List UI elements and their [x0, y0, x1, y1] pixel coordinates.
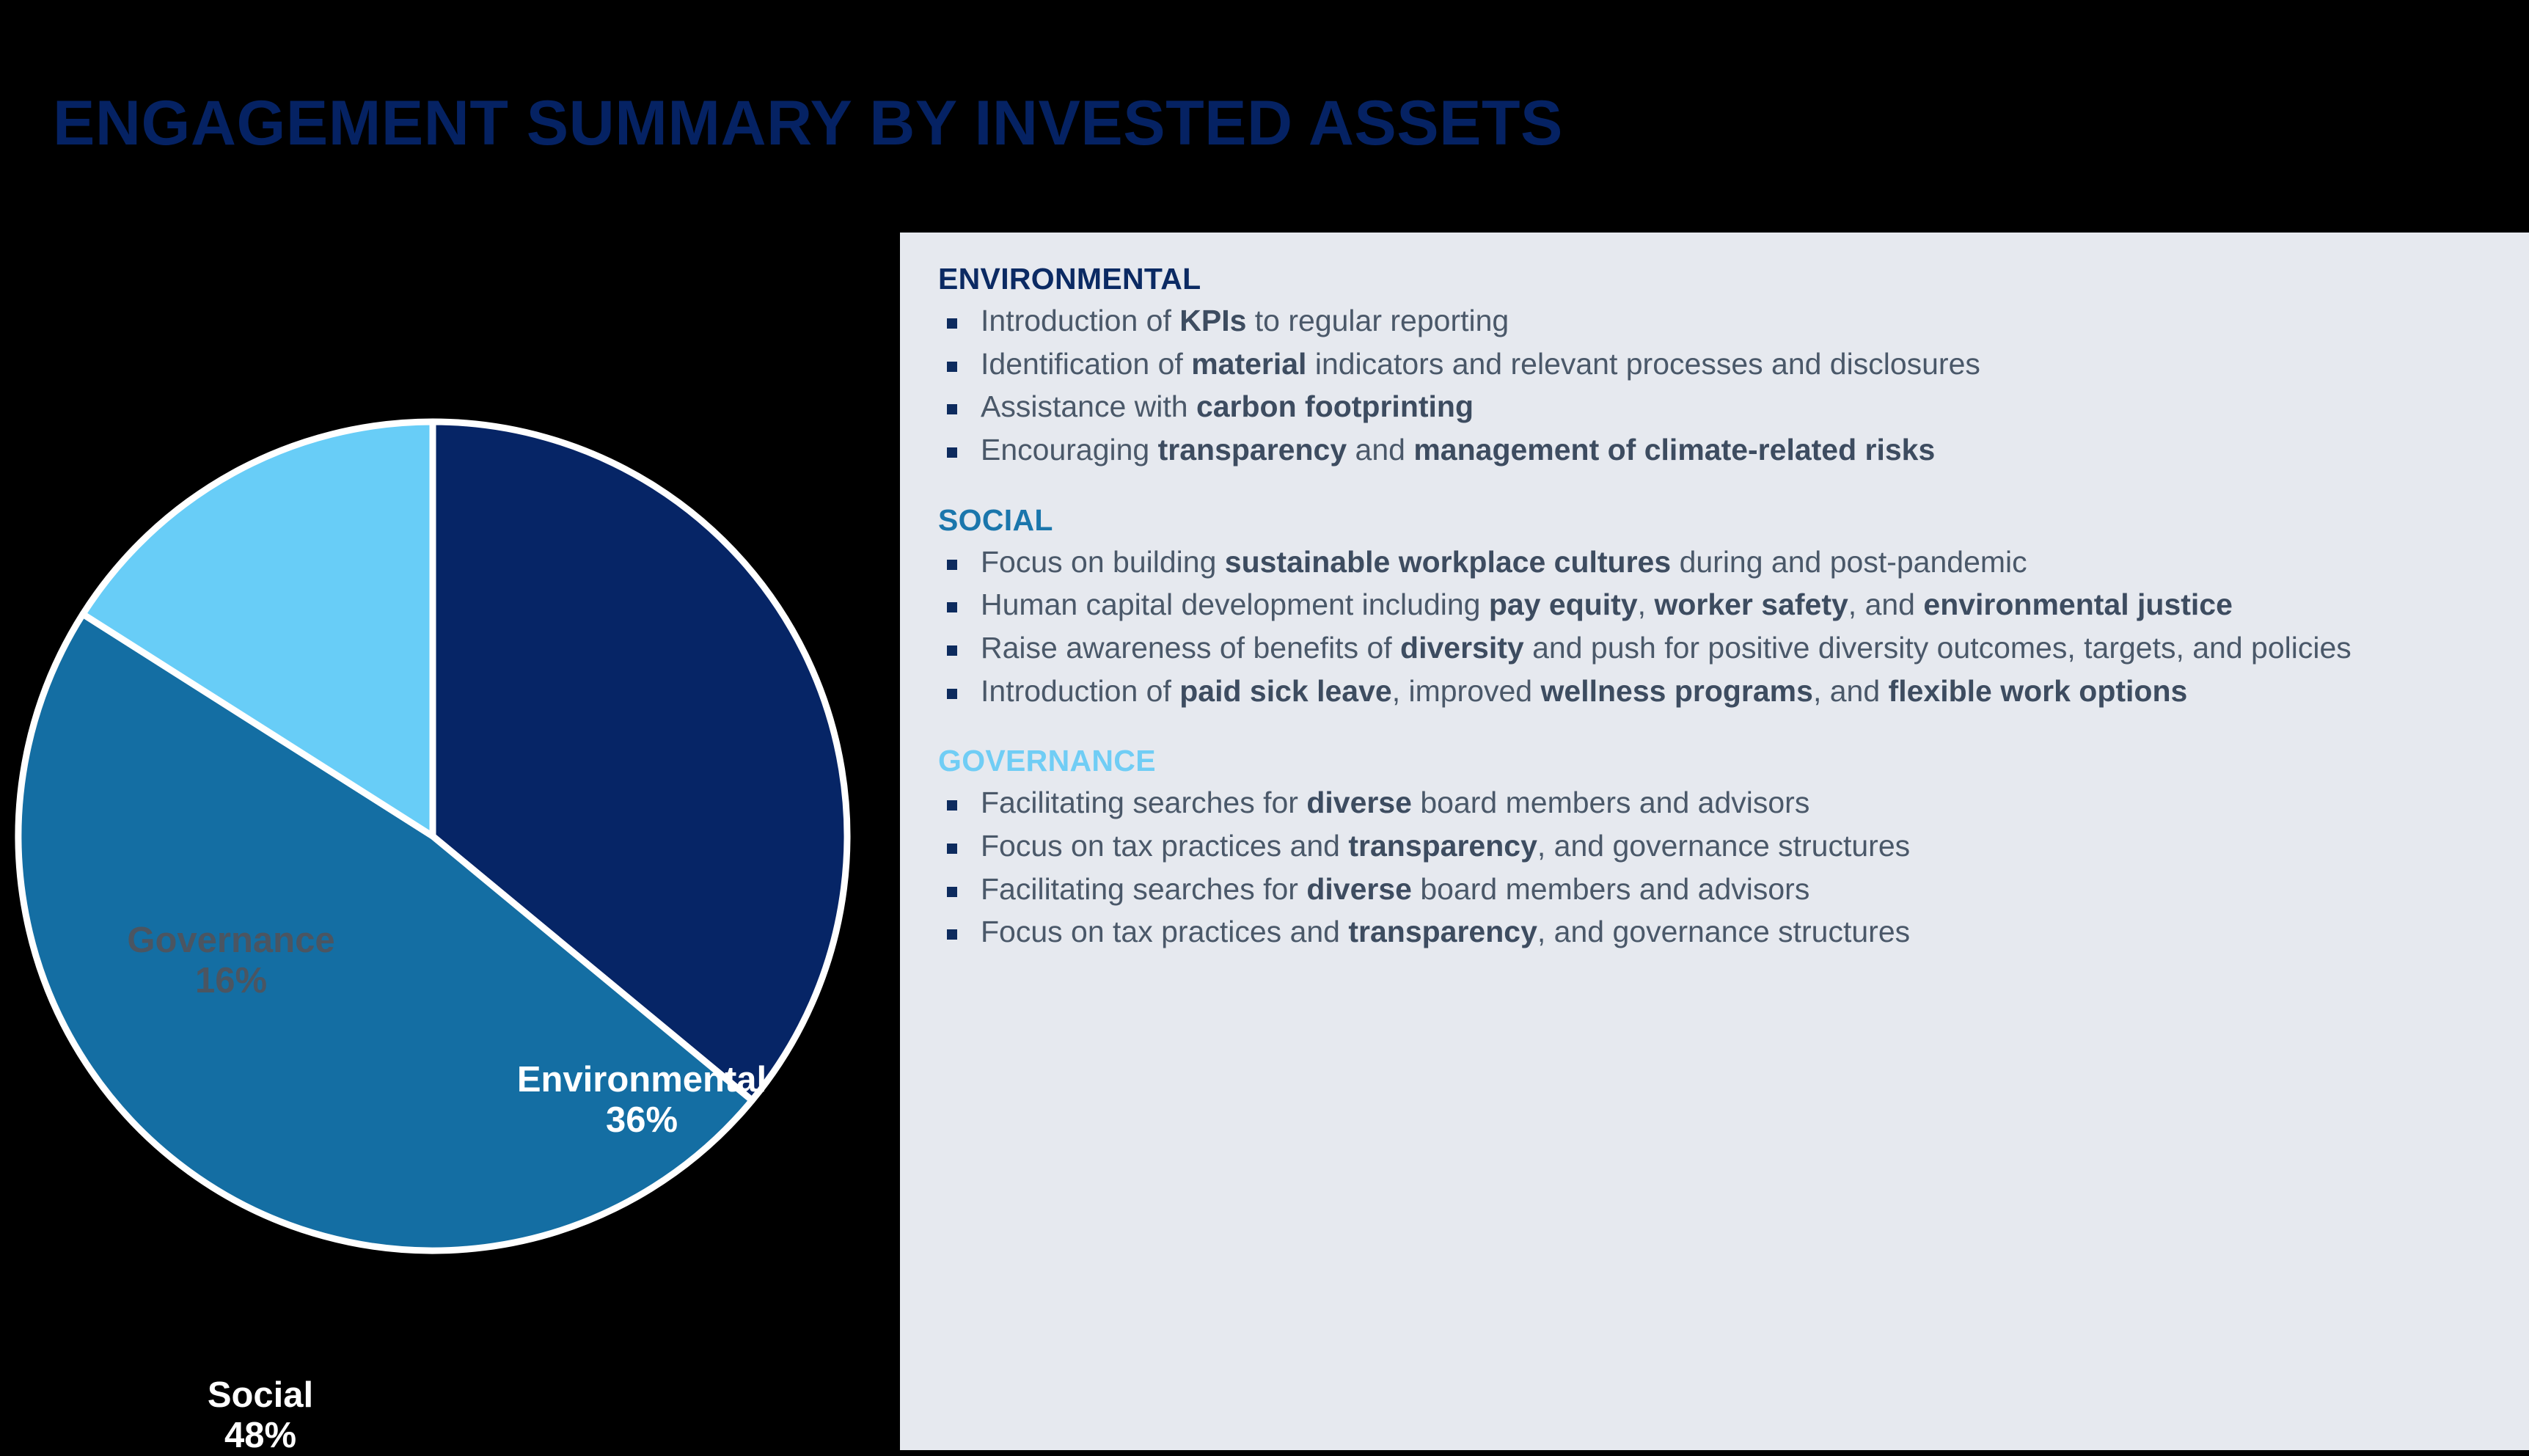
bullet-list-governance: Facilitating searches for diverse board … [921, 784, 2495, 951]
bullet-text: and push for positive diversity outcomes… [1524, 631, 2352, 665]
bullet-emphasis: diverse [1306, 786, 1412, 819]
bullet-emphasis: pay equity [1489, 588, 1638, 621]
bullet-emphasis: material [1191, 347, 1306, 381]
bullet-emphasis: KPIs [1179, 304, 1246, 337]
bullet-text: Human capital development including [981, 588, 1489, 621]
bullet-text: Focus on tax practices and [981, 829, 1348, 863]
bullet-text: Focus on tax practices and [981, 915, 1348, 948]
bullet-emphasis: sustainable workplace cultures [1225, 545, 1671, 579]
bullet-emphasis: management of climate-related risks [1413, 433, 1935, 467]
bullet-emphasis: wellness programs [1541, 674, 1813, 708]
bullet-text: , and [1848, 588, 1924, 621]
bullet-emphasis: worker safety [1654, 588, 1848, 621]
bullet-text: , [1638, 588, 1655, 621]
bullet-text: during and post-pandemic [1671, 545, 2027, 579]
pie-slice-value-governance: 16% [66, 961, 396, 1001]
bullet-text: board members and advisors [1412, 786, 1809, 819]
list-item: Human capital development including pay … [938, 586, 2495, 624]
list-item: Focus on tax practices and transparency,… [938, 913, 2495, 951]
pie-slice-name-environmental: Environmental [469, 1060, 814, 1100]
bullet-text: Introduction of [981, 674, 1179, 708]
list-item: Assistance with carbon footprinting [938, 388, 2495, 426]
section-heading-social: SOCIAL [938, 503, 2495, 538]
section-governance: GOVERNANCE Facilitating searches for div… [921, 744, 2495, 951]
section-social: SOCIAL Focus on building sustainable wor… [921, 503, 2495, 711]
pie-slice-label-social: Social 48% [132, 1375, 389, 1456]
bullet-text: Encouraging [981, 433, 1158, 467]
list-item: Introduction of paid sick leave, improve… [938, 673, 2495, 711]
section-heading-environmental: ENVIRONMENTAL [938, 262, 2495, 296]
bullet-emphasis: carbon footprinting [1196, 389, 1474, 423]
bullet-text: indicators and relevant processes and di… [1306, 347, 1980, 381]
pie-chart: Environmental 36% Social 48% Governance … [0, 381, 902, 1291]
bullet-emphasis: flexible work options [1889, 674, 2188, 708]
bullet-emphasis: paid sick leave [1179, 674, 1391, 708]
list-item: Facilitating searches for diverse board … [938, 871, 2495, 909]
list-item: Encouraging transparency and management … [938, 431, 2495, 469]
bullet-text: , and governance structures [1537, 915, 1910, 948]
bullet-emphasis: transparency [1158, 433, 1347, 467]
bullet-text: board members and advisors [1412, 872, 1809, 906]
bullet-text: Facilitating searches for [981, 786, 1306, 819]
bullet-text: , and [1813, 674, 1889, 708]
bullet-emphasis: transparency [1348, 829, 1537, 863]
list-item: Focus on building sustainable workplace … [938, 544, 2495, 582]
page-title: ENGAGEMENT SUMMARY BY INVESTED ASSETS [53, 92, 1563, 155]
pie-slice-name-governance: Governance [66, 921, 396, 961]
section-heading-governance: GOVERNANCE [938, 744, 2495, 778]
bullet-list-social: Focus on building sustainable workplace … [921, 544, 2495, 711]
bullet-text: , and governance structures [1537, 829, 1910, 863]
bullet-text: , improved [1392, 674, 1541, 708]
bullet-text: and [1347, 433, 1413, 467]
bullet-emphasis: diverse [1306, 872, 1412, 906]
bullet-text: to regular reporting [1246, 304, 1509, 337]
list-item: Facilitating searches for diverse board … [938, 784, 2495, 822]
list-item: Raise awareness of benefits of diversity… [938, 629, 2495, 667]
list-item: Focus on tax practices and transparency,… [938, 827, 2495, 866]
pie-slice-value-environmental: 36% [469, 1100, 814, 1141]
bullet-text: Introduction of [981, 304, 1179, 337]
bullet-emphasis: diversity [1400, 631, 1524, 665]
bullet-text: Raise awareness of benefits of [981, 631, 1400, 665]
bullet-text: Assistance with [981, 389, 1196, 423]
bullet-emphasis: transparency [1348, 915, 1537, 948]
bullet-text: Focus on building [981, 545, 1225, 579]
list-item: Identification of material indicators an… [938, 345, 2495, 384]
bullet-text: Facilitating searches for [981, 872, 1306, 906]
engagement-details-panel: ENVIRONMENTAL Introduction of KPIs to re… [900, 233, 2529, 1450]
pie-slice-name-social: Social [132, 1375, 389, 1416]
section-environmental: ENVIRONMENTAL Introduction of KPIs to re… [921, 262, 2495, 469]
list-item: Introduction of KPIs to regular reportin… [938, 302, 2495, 340]
bullet-emphasis: environmental justice [1923, 588, 2233, 621]
bullet-list-environmental: Introduction of KPIs to regular reportin… [921, 302, 2495, 469]
bullet-text: Identification of [981, 347, 1191, 381]
pie-slice-label-environmental: Environmental 36% [469, 1060, 814, 1141]
pie-slice-label-governance: Governance 16% [66, 921, 396, 1001]
